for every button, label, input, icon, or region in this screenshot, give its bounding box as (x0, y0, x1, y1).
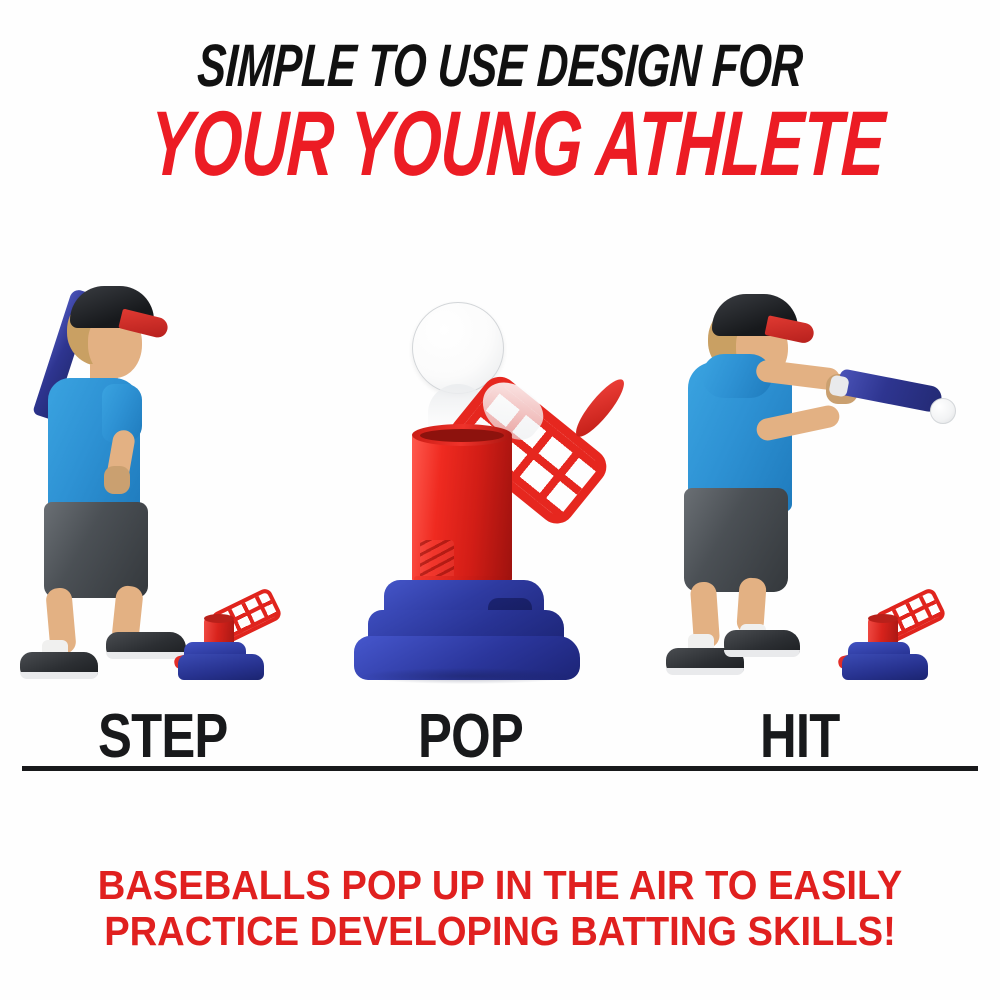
bat-icon (836, 368, 943, 413)
launcher-hit (842, 596, 962, 680)
product-infographic-poster: SIMPLE TO USE DESIGN FOR YOUR YOUNG ATHL… (0, 0, 1000, 1000)
headline-line-2: YOUR YOUNG ATHLETE (148, 98, 853, 190)
launcher-tube-mouth (420, 429, 504, 442)
launcher-step (178, 596, 298, 680)
launcher-shadow (362, 668, 572, 684)
launcher-base-lower (178, 654, 264, 680)
step-label-step: STEP (98, 706, 228, 768)
launcher-base-lower (842, 654, 928, 680)
struck-baseball-icon (930, 398, 956, 424)
shoe-front-sole (724, 650, 800, 657)
headline-block: SIMPLE TO USE DESIGN FOR YOUR YOUNG ATHL… (0, 36, 1000, 190)
tagline-line-1: BASEBALLS POP UP IN THE AIR TO EASILY (35, 862, 965, 908)
tagline-line-2: PRACTICE DEVELOPING BATTING SKILLS! (35, 908, 965, 954)
step-panel-pop (350, 280, 650, 700)
launcher-mesh-end-cap (570, 374, 631, 443)
shorts (684, 488, 788, 592)
horizontal-divider-rule (22, 766, 978, 771)
shorts (44, 502, 148, 598)
hand (104, 466, 130, 494)
step-label-pop: POP (418, 706, 523, 768)
step-panel-step (10, 280, 320, 700)
step-panel-hit (660, 280, 990, 700)
shoe-back-sole (666, 668, 744, 675)
shoe-back-sole (20, 672, 98, 679)
steps-illustration-area (0, 280, 1000, 700)
tagline-block: BASEBALLS POP UP IN THE AIR TO EASILY PR… (0, 862, 1000, 954)
step-label-hit: HIT (760, 706, 839, 768)
launcher-pop (350, 280, 650, 700)
headline-line-1: SIMPLE TO USE DESIGN FOR (138, 36, 861, 96)
